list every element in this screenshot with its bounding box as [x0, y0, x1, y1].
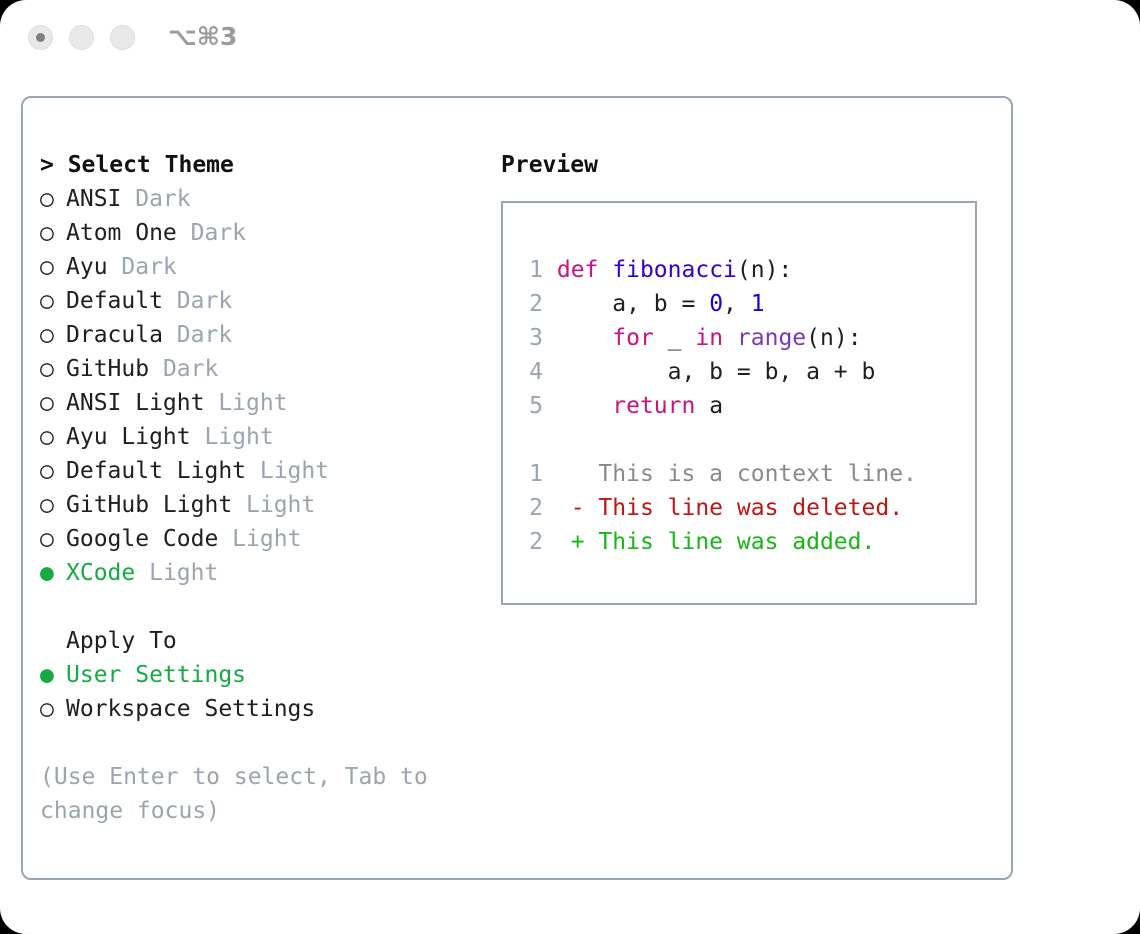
theme-variant-label: Light: [232, 492, 315, 518]
line-number: 4: [517, 355, 543, 389]
apply-to-option-label: User Settings: [66, 662, 246, 688]
apply-to-list: ●User Settings○Workspace Settings: [40, 658, 490, 726]
theme-option-label: XCode: [66, 560, 135, 586]
theme-variant-label: Light: [135, 560, 218, 586]
code-token: a, b =: [557, 291, 709, 317]
theme-option-label: GitHub: [66, 356, 149, 382]
theme-variant-label: Light: [191, 424, 274, 450]
apply-to-heading-label: Apply To: [66, 628, 177, 654]
theme-variant-label: Dark: [108, 254, 177, 280]
line-number: 2: [517, 287, 543, 321]
theme-selector-column: > Select Theme ○ANSI Dark○Atom One Dark○…: [40, 148, 490, 828]
code-token: _: [654, 325, 696, 351]
diff-sample: 1 This is a context line.2 - This line w…: [517, 457, 967, 559]
radio-unselected-icon: ○: [40, 522, 66, 556]
apply-to-option-workspace-settings[interactable]: ○Workspace Settings: [40, 692, 490, 726]
theme-option-ayu-light[interactable]: ○Ayu Light Light: [40, 420, 490, 454]
radio-unselected-icon: ○: [40, 250, 66, 284]
theme-option-ansi-light[interactable]: ○ANSI Light Light: [40, 386, 490, 420]
code-token: [557, 393, 612, 419]
preview-heading: Preview: [501, 148, 991, 182]
code-token: range: [737, 325, 806, 351]
theme-option-default[interactable]: ○Default Dark: [40, 284, 490, 318]
radio-unselected-icon: ○: [40, 182, 66, 216]
code-line: 2 a, b = 0, 1: [517, 287, 967, 321]
code-line: 1 def fibonacci(n):: [517, 253, 967, 287]
theme-option-label: ANSI: [66, 186, 121, 212]
radio-unselected-icon: ○: [40, 420, 66, 454]
apply-to-option-label: Workspace Settings: [66, 696, 315, 722]
radio-selected-icon: ●: [40, 658, 66, 692]
theme-variant-label: Light: [246, 458, 329, 484]
radio-unselected-icon: ○: [40, 284, 66, 318]
window-dot-active[interactable]: [28, 25, 53, 50]
code-token: def: [557, 257, 599, 283]
diff-marker: -: [571, 495, 599, 521]
line-gutter-gap: [543, 325, 557, 351]
theme-option-label: Google Code: [66, 526, 218, 552]
theme-variant-label: Dark: [177, 220, 246, 246]
keyboard-shortcut-label: ⌥⌘3: [168, 22, 237, 51]
window-dot-third[interactable]: [110, 25, 135, 50]
code-token: for: [612, 325, 654, 351]
window-controls: [28, 25, 135, 50]
theme-option-ayu[interactable]: ○Ayu Dark: [40, 250, 490, 284]
diff-line: 2 + This line was added.: [517, 525, 967, 559]
line-gutter-gap: [543, 393, 557, 419]
line-number: 1: [517, 253, 543, 287]
line-number: 1: [517, 457, 543, 491]
diff-marker: +: [571, 529, 599, 555]
code-token: return: [612, 393, 695, 419]
title-bar: ⌥⌘3: [0, 0, 1140, 78]
code-token: [557, 325, 612, 351]
radio-unselected-icon: ○: [40, 454, 66, 488]
code-preview-panel: 1 def fibonacci(n):2 a, b = 0, 13 for _ …: [501, 201, 977, 605]
radio-unselected-icon: ○: [40, 318, 66, 352]
theme-option-github-light[interactable]: ○GitHub Light Light: [40, 488, 490, 522]
radio-unselected-icon: ○: [40, 216, 66, 250]
line-gutter-gap: [543, 495, 571, 521]
line-number: 3: [517, 321, 543, 355]
code-token: [723, 325, 737, 351]
theme-option-ansi[interactable]: ○ANSI Dark: [40, 182, 490, 216]
diff-line: 1 This is a context line.: [517, 457, 967, 491]
code-diff-spacer: [517, 423, 967, 457]
theme-option-dracula[interactable]: ○Dracula Dark: [40, 318, 490, 352]
radio-selected-icon: ●: [40, 556, 66, 590]
code-token: ,: [723, 291, 751, 317]
theme-variant-label: Dark: [121, 186, 190, 212]
line-number: 2: [517, 525, 543, 559]
code-token: fibonacci: [612, 257, 737, 283]
theme-variant-label: Dark: [163, 288, 232, 314]
line-gutter-gap: [543, 359, 557, 385]
radio-unselected-icon: ○: [40, 488, 66, 522]
preview-column: Preview 1 def fibonacci(n):2 a, b = 0, 1…: [501, 148, 991, 605]
code-token: 1: [751, 291, 765, 317]
theme-option-atom-one[interactable]: ○Atom One Dark: [40, 216, 490, 250]
theme-option-label: Ayu Light: [66, 424, 191, 450]
diff-line: 2 - This line was deleted.: [517, 491, 967, 525]
line-number: 2: [517, 491, 543, 525]
theme-variant-label: Light: [218, 526, 301, 552]
line-gutter-gap: [543, 461, 571, 487]
theme-option-label: Dracula: [66, 322, 163, 348]
theme-variant-label: Dark: [149, 356, 218, 382]
window-dot-active-indicator: [36, 33, 45, 42]
code-token: a, b = b, a + b: [557, 359, 876, 385]
theme-option-google-code[interactable]: ○Google Code Light: [40, 522, 490, 556]
theme-option-label: GitHub Light: [66, 492, 232, 518]
code-line: 4 a, b = b, a + b: [517, 355, 967, 389]
theme-option-github[interactable]: ○GitHub Dark: [40, 352, 490, 386]
diff-text: This is a context line.: [598, 461, 917, 487]
diff-text: This line was deleted.: [598, 495, 903, 521]
radio-unselected-icon: ○: [40, 352, 66, 386]
radio-unselected-icon: ○: [40, 692, 66, 726]
theme-option-label: Atom One: [66, 220, 177, 246]
theme-option-xcode[interactable]: ●XCode Light: [40, 556, 490, 590]
code-token: in: [695, 325, 723, 351]
theme-option-label: ANSI Light: [66, 390, 204, 416]
diff-text: This line was added.: [598, 529, 875, 555]
line-gutter-gap: [543, 257, 557, 283]
theme-variant-label: Light: [204, 390, 287, 416]
theme-list: ○ANSI Dark○Atom One Dark○Ayu Dark○Defaul…: [40, 182, 490, 590]
apply-to-heading-indent: [40, 624, 66, 658]
apply-to-heading: Apply To: [40, 624, 490, 658]
content-frame: > Select Theme ○ANSI Dark○Atom One Dark○…: [21, 96, 1013, 880]
apply-to-option-user-settings[interactable]: ●User Settings: [40, 658, 490, 692]
theme-option-default-light[interactable]: ○Default Light Light: [40, 454, 490, 488]
theme-option-label: Ayu: [66, 254, 108, 280]
window-dot-second[interactable]: [69, 25, 94, 50]
code-token: (n):: [737, 257, 792, 283]
syntax-sample: 1 def fibonacci(n):2 a, b = 0, 13 for _ …: [517, 253, 967, 423]
keyboard-hint: (Use Enter to select, Tab to change focu…: [40, 760, 450, 828]
theme-variant-label: Dark: [163, 322, 232, 348]
code-token: (n):: [806, 325, 861, 351]
line-gutter-gap: [543, 291, 557, 317]
radio-unselected-icon: ○: [40, 386, 66, 420]
code-line: 5 return a: [517, 389, 967, 423]
diff-marker: [571, 461, 599, 487]
line-gutter-gap: [543, 529, 571, 555]
line-number: 5: [517, 389, 543, 423]
code-token: a: [695, 393, 723, 419]
code-token: [598, 257, 612, 283]
theme-option-label: Default: [66, 288, 163, 314]
app-window: ⌥⌘3 > Select Theme ○ANSI Dark○Atom One D…: [0, 0, 1140, 934]
code-line: 3 for _ in range(n):: [517, 321, 967, 355]
select-theme-heading: > Select Theme: [40, 148, 490, 182]
code-token: 0: [709, 291, 723, 317]
theme-option-label: Default Light: [66, 458, 246, 484]
code-preview-body: 1 def fibonacci(n):2 a, b = 0, 13 for _ …: [517, 253, 967, 559]
